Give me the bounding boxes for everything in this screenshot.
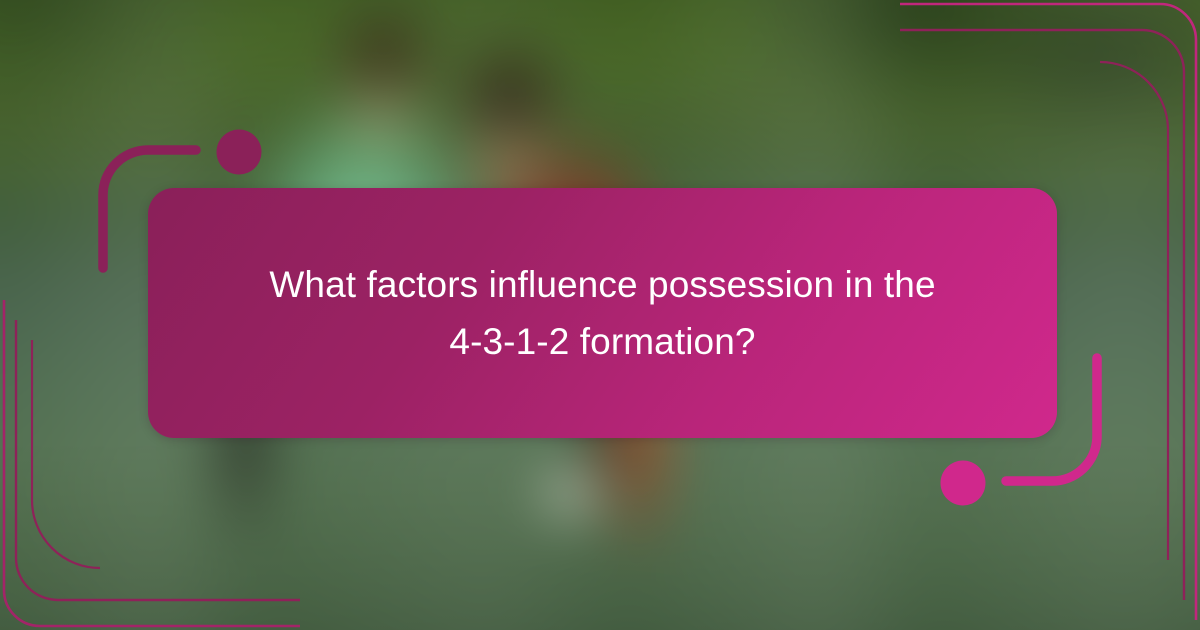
- headline-card: What factors influence possession in the…: [148, 188, 1057, 438]
- share-card-canvas: What factors influence possession in the…: [0, 0, 1200, 630]
- headline-text: What factors influence possession in the…: [223, 256, 983, 371]
